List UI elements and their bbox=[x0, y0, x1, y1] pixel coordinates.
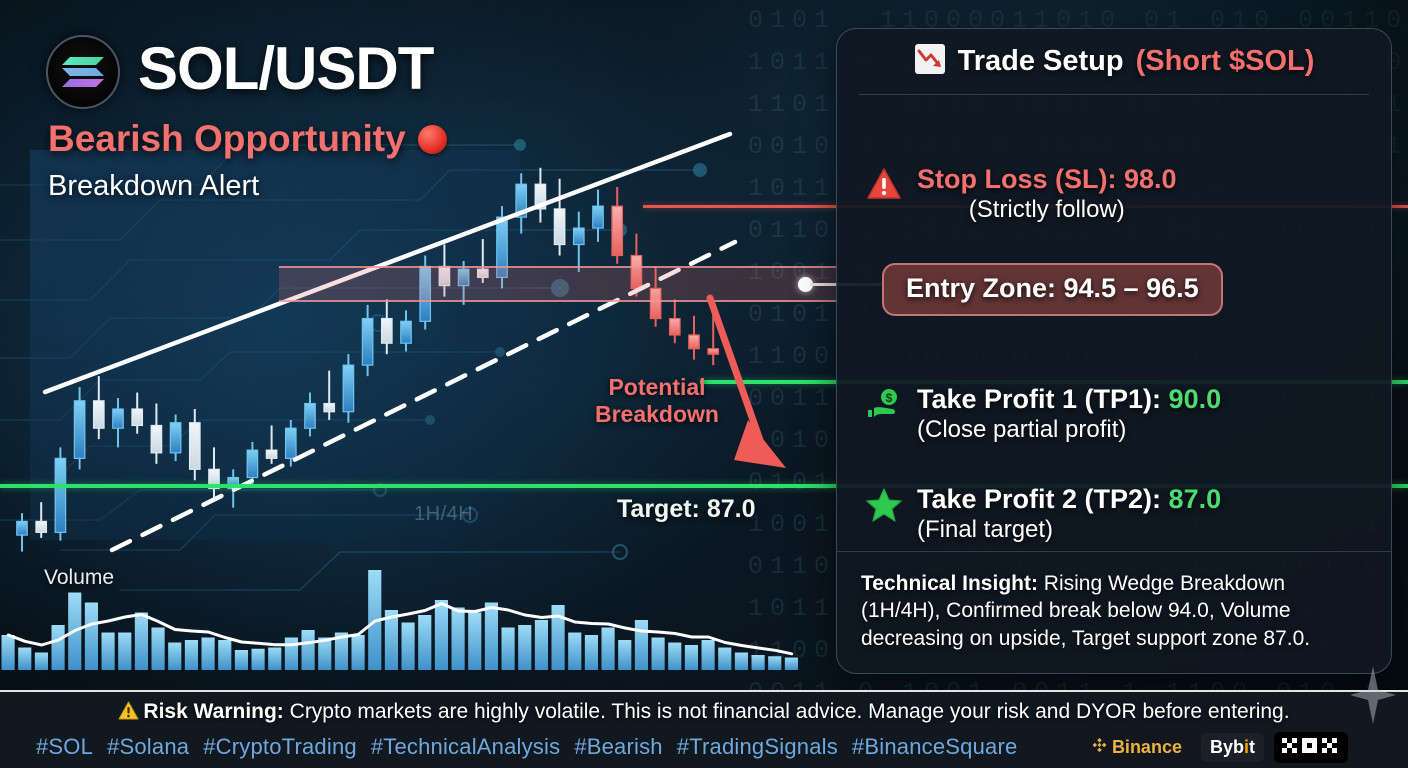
stop-loss-label: Stop Loss (SL): 98.0 bbox=[917, 164, 1177, 195]
star-icon bbox=[865, 484, 903, 522]
okx-logo-icon bbox=[1282, 736, 1340, 759]
bybit-label: Bybit bbox=[1210, 736, 1255, 759]
technical-insight-label: Technical Insight: bbox=[861, 572, 1038, 595]
svg-text:$: $ bbox=[886, 391, 893, 405]
take-profit-2-row: Take Profit 2 (TP2): 87.0 (Final target) bbox=[865, 484, 1221, 544]
exchange-badges: Binance Bybit bbox=[1083, 732, 1348, 763]
page-title: SOL/USDT bbox=[138, 34, 433, 103]
pair-title-row: SOL/USDT bbox=[138, 34, 433, 103]
bearish-subtitle: Bearish Opportunity bbox=[48, 118, 447, 160]
take-profit-1-label: Take Profit 1 (TP1): bbox=[917, 384, 1169, 414]
chart-decreasing-icon bbox=[914, 43, 946, 80]
take-profit-2-note: (Final target) bbox=[917, 516, 1221, 544]
take-profit-1-note: (Close partial profit) bbox=[917, 416, 1221, 444]
warning-triangle-icon bbox=[118, 701, 139, 726]
volume-label: Volume bbox=[44, 566, 114, 590]
money-hand-icon: $ bbox=[865, 384, 903, 420]
breakdown-line-2: Breakdown bbox=[592, 401, 722, 428]
panel-title-suffix: (Short $SOL) bbox=[1136, 45, 1315, 78]
risk-warning-text: Crypto markets are highly volatile. This… bbox=[284, 700, 1290, 723]
target-annotation: Target: 87.0 bbox=[617, 495, 755, 524]
potential-breakdown-annotation: Potential Breakdown bbox=[592, 374, 722, 428]
sparkle-decoration bbox=[1350, 666, 1396, 724]
hashtag[interactable]: #BinanceSquare bbox=[852, 734, 1017, 759]
binance-label: Binance bbox=[1112, 736, 1182, 759]
hashtag-list: #SOL#Solana#CryptoTrading#TechnicalAnaly… bbox=[36, 734, 1031, 760]
hashtag[interactable]: #TradingSignals bbox=[677, 734, 838, 759]
volume-chart bbox=[0, 558, 800, 678]
hashtag[interactable]: #CryptoTrading bbox=[203, 734, 357, 759]
binance-badge[interactable]: Binance bbox=[1083, 733, 1191, 762]
solana-logo-icon bbox=[46, 35, 120, 109]
stop-loss-row: Stop Loss (SL): 98.0 (Strictly follow) bbox=[865, 164, 1177, 224]
okx-badge[interactable] bbox=[1274, 732, 1348, 763]
panel-title: Trade Setup bbox=[958, 45, 1124, 78]
footer-bar: Risk Warning: Crypto markets are highly … bbox=[0, 690, 1408, 768]
hashtag[interactable]: #TechnicalAnalysis bbox=[371, 734, 560, 759]
take-profit-1-value: 90.0 bbox=[1169, 384, 1222, 414]
risk-warning: Risk Warning: Crypto markets are highly … bbox=[0, 700, 1408, 726]
timeframe-watermark: 1H/4H bbox=[414, 503, 473, 526]
stop-loss-note: (Strictly follow) bbox=[917, 196, 1177, 224]
take-profit-2-value: 87.0 bbox=[1169, 484, 1222, 514]
bybit-badge[interactable]: Bybit bbox=[1201, 733, 1264, 762]
infographic-canvas: 0101 11000011010 01 010 00110010 11000 1… bbox=[0, 0, 1408, 768]
hashtag[interactable]: #Solana bbox=[107, 734, 189, 759]
technical-insight-section: Technical Insight: Rising Wedge Breakdow… bbox=[837, 551, 1391, 673]
binance-diamond-icon bbox=[1092, 736, 1107, 759]
risk-warning-label: Risk Warning: bbox=[143, 700, 283, 723]
red-circle-icon bbox=[418, 125, 447, 154]
hashtag[interactable]: #Bearish bbox=[574, 734, 662, 759]
take-profit-1-row: $ Take Profit 1 (TP1): 90.0 (Close parti… bbox=[865, 384, 1221, 444]
hashtag[interactable]: #SOL bbox=[36, 734, 93, 759]
panel-header: Trade Setup (Short $SOL) bbox=[859, 29, 1369, 95]
bearish-subtitle-text: Bearish Opportunity bbox=[48, 118, 406, 160]
entry-zone-chip: Entry Zone: 94.5 – 96.5 bbox=[882, 263, 1223, 316]
breakdown-alert-text: Breakdown Alert bbox=[48, 170, 259, 203]
trade-setup-panel: Trade Setup (Short $SOL) Stop Loss (SL):… bbox=[836, 28, 1392, 674]
breakdown-line-1: Potential bbox=[592, 374, 722, 401]
take-profit-2-label: Take Profit 2 (TP2): bbox=[917, 484, 1169, 514]
warning-triangle-icon bbox=[865, 164, 903, 199]
